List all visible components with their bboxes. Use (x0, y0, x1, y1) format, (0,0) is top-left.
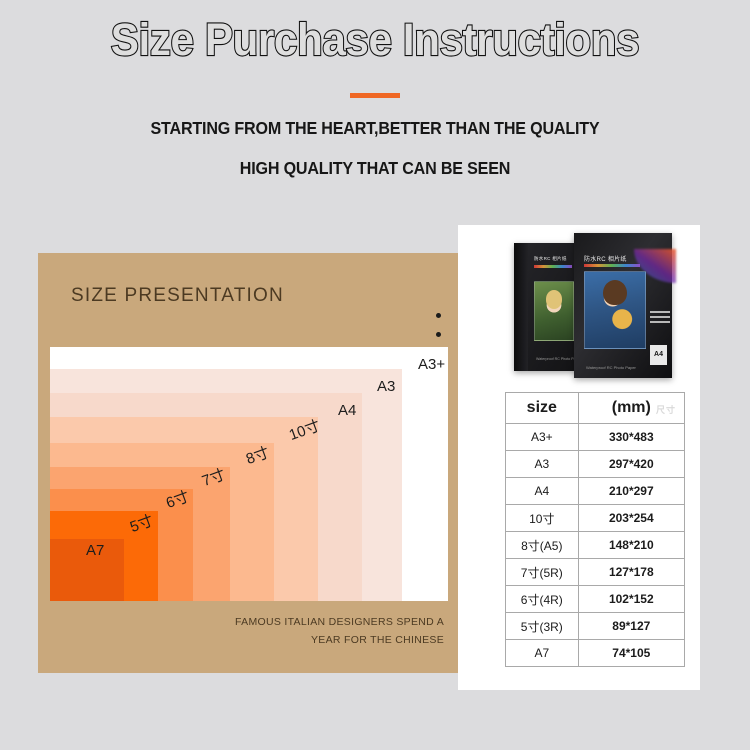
table-row: A4210*297 (506, 478, 685, 505)
cell-size: 7寸(5R) (506, 559, 579, 586)
page-title: Size Purchase Instructions (23, 14, 728, 66)
size-label-A7: A7 (86, 542, 104, 559)
accent-bar (350, 93, 400, 98)
cell-mm: 89*127 (578, 613, 684, 640)
size-comparison-diagram: A3+A3A410寸8寸7寸6寸5寸A7 (50, 347, 448, 601)
table-row: 10寸203*254 (506, 505, 685, 532)
panel-heading: SIZE PRESENTATION (71, 285, 284, 307)
table-header-row: size (mm) 尺寸 (506, 393, 685, 424)
decoration-dot-2 (436, 332, 441, 337)
cell-size: A3 (506, 451, 579, 478)
cell-size: A7 (506, 640, 579, 667)
size-label-A3+: A3+ (418, 356, 445, 373)
table-row: 6寸(4R)102*152 (506, 586, 685, 613)
table-row: A3+330*483 (506, 424, 685, 451)
table-row: 5寸(3R)89*127 (506, 613, 685, 640)
size-spec-table: size (mm) 尺寸 A3+330*483A3297*420A4210*29… (505, 392, 685, 667)
cell-size: 5寸(3R) (506, 613, 579, 640)
cell-mm: 203*254 (578, 505, 684, 532)
cell-mm: 148*210 (578, 532, 684, 559)
photo-paper-box-spine (514, 243, 528, 371)
box-front-feature-bullets (650, 311, 670, 326)
box-back-brand-text: 防水RC 相片纸 (534, 256, 567, 262)
table-row: 7寸(5R)127*178 (506, 559, 685, 586)
cell-size: 6寸(4R) (506, 586, 579, 613)
cell-mm: 74*105 (578, 640, 684, 667)
column-header-size: size (506, 393, 579, 424)
cell-mm: 127*178 (578, 559, 684, 586)
cell-mm: 210*297 (578, 478, 684, 505)
table-row: 8寸(A5)148*210 (506, 532, 685, 559)
cell-size: 8寸(A5) (506, 532, 579, 559)
box-front-brand-text: 防水RC 相片纸 (584, 254, 627, 263)
table-watermark: 尺寸 (656, 403, 676, 416)
panel-footer-line-1: FAMOUS ITALIAN DESIGNERS SPEND A (124, 613, 444, 631)
page-header: Size Purchase Instructions STARTING FROM… (0, 0, 750, 200)
column-header-mm: (mm) 尺寸 (578, 393, 684, 424)
box-front-child-photo (584, 271, 646, 349)
box-front-brand-stripe (584, 264, 640, 267)
column-header-mm-label: (mm) (612, 399, 651, 416)
box-front-bottom-text: Waterproof RC Photo Paper (586, 365, 636, 370)
subtitle-line-1: STARTING FROM THE HEART,BETTER THAN THE … (30, 118, 720, 139)
cell-mm: 102*152 (578, 586, 684, 613)
size-label-A4: A4 (338, 402, 356, 419)
table-row: A3297*420 (506, 451, 685, 478)
product-info-panel: 防水RC 相片纸 Waterproof RC Photo Paper 防水RC … (458, 225, 700, 690)
subtitle-line-2: HIGH QUALITY THAT CAN BE SEEN (30, 158, 720, 179)
a4-size-badge: A4 (650, 345, 667, 365)
decoration-dot-1 (436, 313, 441, 318)
panel-footer-line-2: YEAR FOR THE CHINESE (124, 631, 444, 649)
cell-size: 10寸 (506, 505, 579, 532)
table-row: A774*105 (506, 640, 685, 667)
cell-mm: 297*420 (578, 451, 684, 478)
box-back-brand-stripe (534, 265, 572, 268)
cell-size: A4 (506, 478, 579, 505)
size-label-A3: A3 (377, 378, 395, 395)
product-photo: 防水RC 相片纸 Waterproof RC Photo Paper 防水RC … (458, 225, 700, 390)
box-back-child-photo (534, 281, 574, 341)
panel-footer: FAMOUS ITALIAN DESIGNERS SPEND A YEAR FO… (124, 613, 444, 649)
cell-size: A3+ (506, 424, 579, 451)
size-presentation-panel: SIZE PRESENTATION A3+A3A410寸8寸7寸6寸5寸A7 F… (38, 253, 460, 673)
cell-mm: 330*483 (578, 424, 684, 451)
